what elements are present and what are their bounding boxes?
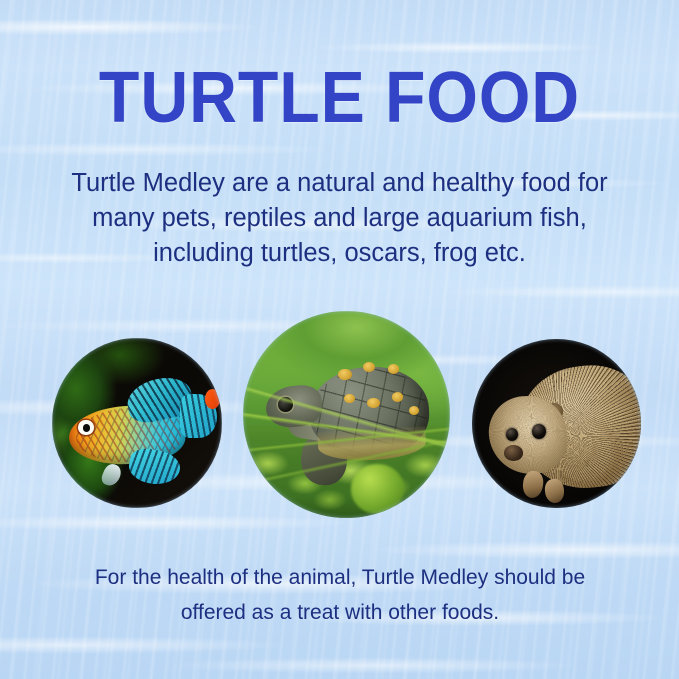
fish-pupil xyxy=(83,424,91,432)
fish-photo xyxy=(52,338,222,508)
turtle-food-poster: TURTLE FOOD Turtle Medley are a natural … xyxy=(0,0,679,679)
hedgehog-photo xyxy=(472,339,641,508)
turtle-photo xyxy=(243,311,450,518)
grass-blades xyxy=(243,311,450,518)
hedgehog-eye-right xyxy=(532,424,546,439)
footer-note: For the health of the animal, Turtle Med… xyxy=(70,560,610,630)
page-title: TURTLE FOOD xyxy=(27,62,652,134)
turtle-scene xyxy=(243,311,450,518)
hedgehog-snout xyxy=(504,445,523,460)
hedgehog-scene xyxy=(472,339,641,508)
intro-paragraph: Turtle Medley are a natural and healthy … xyxy=(62,166,617,271)
fish-scene xyxy=(52,338,222,508)
